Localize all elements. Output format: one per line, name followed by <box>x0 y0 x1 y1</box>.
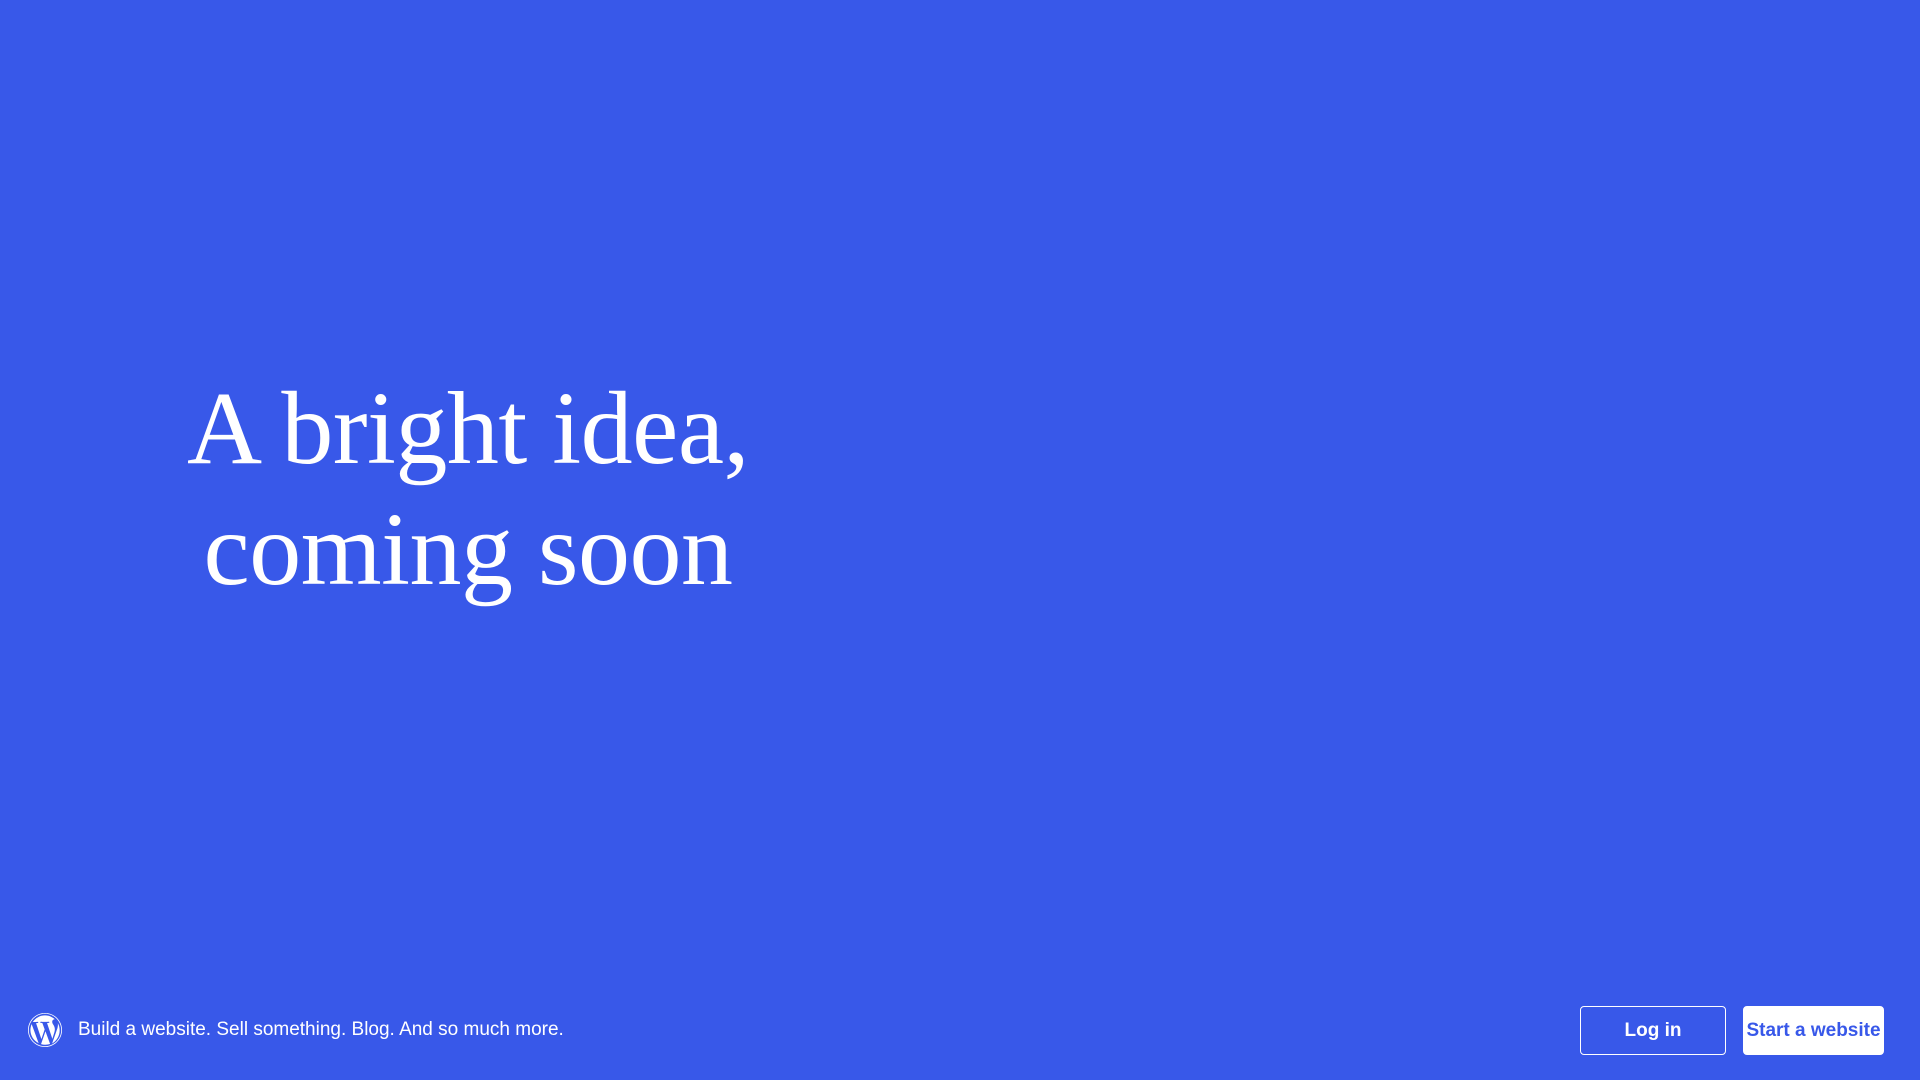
coming-soon-page: A bright idea, coming soon Build a websi… <box>0 0 1920 1080</box>
hero-section: A bright idea, coming soon <box>0 0 1920 980</box>
footer-actions: Log in Start a website <box>1580 1006 1884 1055</box>
footer-branding: Build a website. Sell something. Blog. A… <box>28 1013 1580 1047</box>
footer-bar: Build a website. Sell something. Blog. A… <box>0 980 1920 1080</box>
wordpress-logo-icon <box>28 1013 62 1047</box>
footer-tagline: Build a website. Sell something. Blog. A… <box>78 1018 564 1043</box>
log-in-button[interactable]: Log in <box>1580 1006 1726 1055</box>
start-a-website-button[interactable]: Start a website <box>1743 1006 1884 1055</box>
hero-content: A bright idea, coming soon <box>88 369 848 610</box>
page-title: A bright idea, coming soon <box>187 369 749 610</box>
